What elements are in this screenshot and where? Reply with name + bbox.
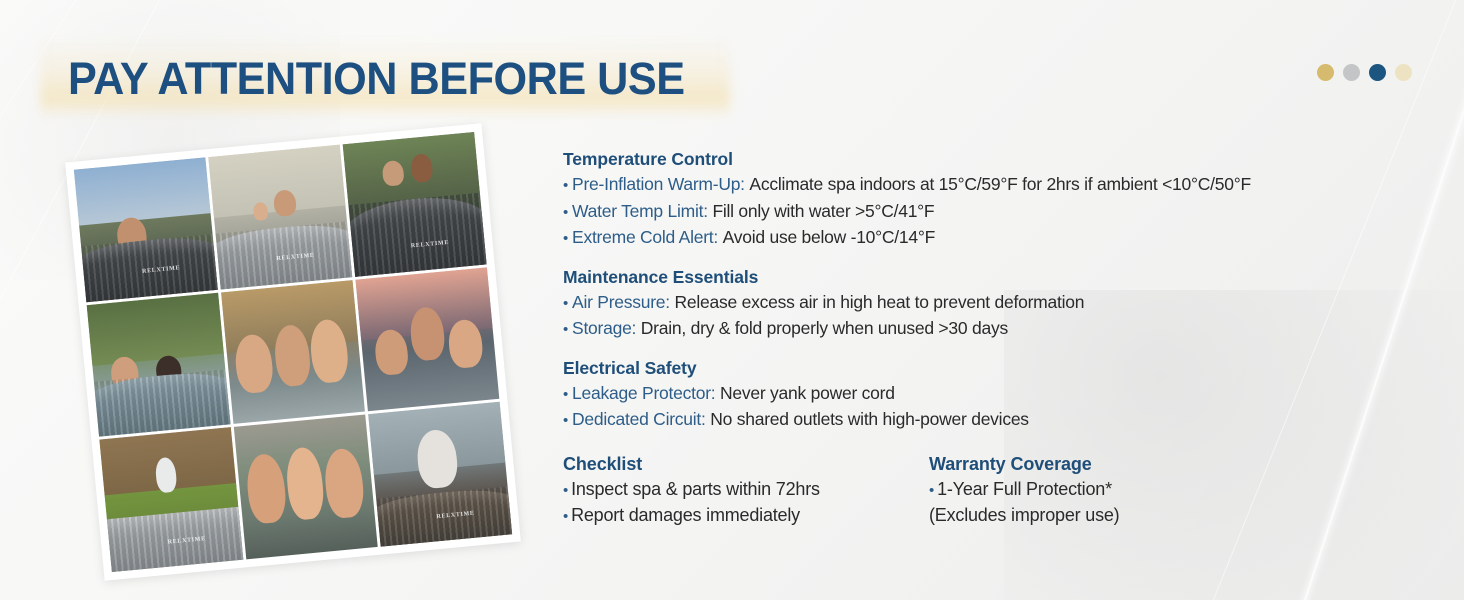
section-maintenance-essentials: Maintenance Essentials •Air Pressure: Re… — [563, 266, 1458, 343]
section-electrical-safety: Electrical Safety •Leakage Protector: Ne… — [563, 357, 1458, 434]
bullet-dot-icon: • — [563, 321, 572, 338]
collage-photo-7: RELXTIME — [99, 428, 243, 573]
checklist-item: •Inspect spa & parts within 72hrs — [563, 477, 929, 503]
bullet-dot-icon: • — [563, 508, 571, 525]
collage-photo-6 — [355, 267, 499, 412]
bullet-dot-icon: • — [563, 204, 572, 221]
bullet-label: Pre-Inflation Warm-Up: — [572, 174, 745, 194]
collage-photo-8 — [234, 415, 378, 560]
bullet-dot-icon: • — [563, 412, 572, 429]
bullet-label: Storage: — [572, 318, 636, 338]
bullet-dot-icon: • — [929, 482, 937, 499]
checklist-item-text: Report damages immediately — [571, 505, 800, 525]
bullet-item: •Extreme Cold Alert: Avoid use below -10… — [563, 225, 1458, 252]
photo-collage: RELXTIME RELXTIME RELXTIME — [65, 123, 521, 580]
bullet-label: Air Pressure: — [572, 292, 670, 312]
section-warranty-coverage: Warranty Coverage •1-Year Full Protectio… — [929, 452, 1349, 529]
collage-photo-9: RELXTIME — [368, 402, 512, 547]
bullet-text: Avoid use below -10°C/14°F — [723, 227, 935, 247]
bullet-dot-icon: • — [563, 177, 572, 194]
bullet-item: •Air Pressure: Release excess air in hig… — [563, 290, 1458, 317]
warranty-item-text: 1-Year Full Protection* — [937, 479, 1112, 499]
bullet-dot-icon: • — [563, 230, 572, 247]
warranty-note: (Excludes improper use) — [929, 503, 1349, 528]
decorative-dot-group — [1317, 64, 1412, 81]
warranty-item: •1-Year Full Protection* — [929, 477, 1349, 503]
section-checklist: Checklist •Inspect spa & parts within 72… — [563, 452, 929, 529]
bullet-text: No shared outlets with high-power device… — [710, 409, 1029, 429]
collage-photo-4 — [87, 292, 231, 437]
content-column: Temperature Control •Pre-Inflation Warm-… — [563, 148, 1458, 529]
bullet-text: Drain, dry & fold properly when unused >… — [641, 318, 1008, 338]
bullet-label: Water Temp Limit: — [572, 201, 708, 221]
collage-photo-5 — [221, 280, 365, 425]
bullet-label: Dedicated Circuit: — [572, 409, 706, 429]
bullet-item: •Pre-Inflation Warm-Up: Acclimate spa in… — [563, 172, 1458, 199]
bullet-text: Never yank power cord — [720, 383, 895, 403]
bullet-item: •Leakage Protector: Never yank power cor… — [563, 381, 1458, 408]
section-heading: Maintenance Essentials — [563, 266, 1458, 289]
collage-photo-2: RELXTIME — [208, 145, 352, 289]
section-heading: Warranty Coverage — [929, 452, 1349, 476]
section-temperature-control: Temperature Control •Pre-Inflation Warm-… — [563, 148, 1458, 252]
page-title: PAY ATTENTION BEFORE USE — [68, 55, 685, 103]
collage-photo-1: RELXTIME — [74, 157, 218, 301]
section-heading: Electrical Safety — [563, 357, 1458, 380]
dot-navy — [1369, 64, 1386, 81]
photo-collage-wrapper: RELXTIME RELXTIME RELXTIME — [66, 136, 526, 580]
bullet-dot-icon: • — [563, 295, 572, 312]
bullet-text: Release excess air in high heat to preve… — [675, 292, 1085, 312]
dot-cream — [1395, 64, 1412, 81]
bullet-item: •Water Temp Limit: Fill only with water … — [563, 199, 1458, 226]
bullet-item: •Dedicated Circuit: No shared outlets wi… — [563, 407, 1458, 434]
checklist-item: •Report damages immediately — [563, 503, 929, 529]
bullet-text: Acclimate spa indoors at 15°C/59°F for 2… — [749, 174, 1251, 194]
section-heading: Temperature Control — [563, 148, 1458, 171]
collage-photo-3: RELXTIME — [343, 132, 487, 276]
bottom-sections-row: Checklist •Inspect spa & parts within 72… — [563, 452, 1458, 529]
bullet-item: •Storage: Drain, dry & fold properly whe… — [563, 316, 1458, 343]
bullet-label: Extreme Cold Alert: — [572, 227, 718, 247]
bullet-dot-icon: • — [563, 482, 571, 499]
promo-banner: PAY ATTENTION BEFORE USE RELXTIME — [0, 0, 1464, 600]
dot-silver — [1343, 64, 1360, 81]
dot-gold — [1317, 64, 1334, 81]
bullet-text: Fill only with water >5°C/41°F — [712, 201, 934, 221]
bullet-dot-icon: • — [563, 386, 572, 403]
section-heading: Checklist — [563, 452, 929, 476]
checklist-item-text: Inspect spa & parts within 72hrs — [571, 479, 820, 499]
bullet-label: Leakage Protector: — [572, 383, 715, 403]
